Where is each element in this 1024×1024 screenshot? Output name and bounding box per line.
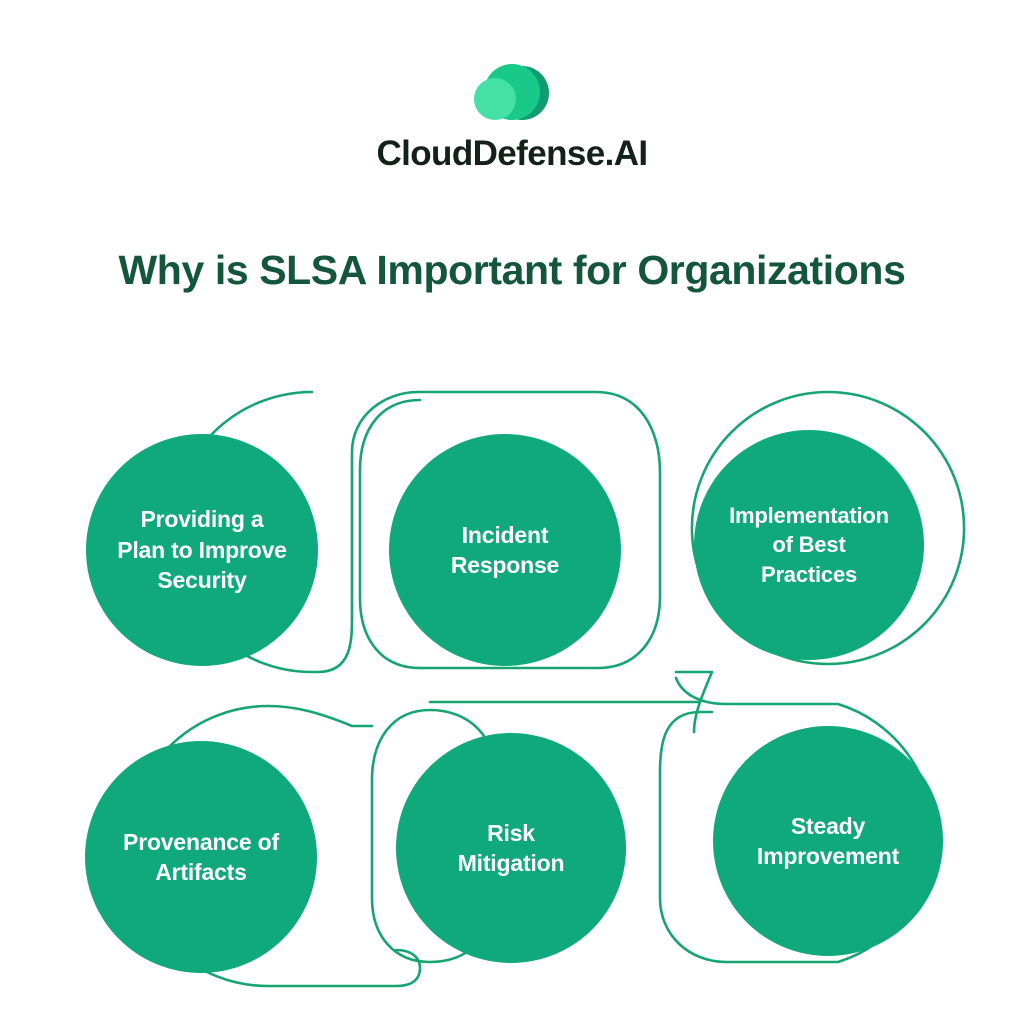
node-label-steady-improvement: Steady Improvement: [749, 811, 907, 872]
node-label-risk-mitigation: Risk Mitigation: [450, 818, 573, 879]
node-providing-plan[interactable]: Providing a Plan to Improve Security: [86, 434, 318, 666]
node-steady-improvement[interactable]: Steady Improvement: [713, 726, 943, 956]
ring-path-row-link: [676, 672, 712, 732]
node-label-provenance: Provenance of Artifacts: [115, 827, 287, 888]
node-risk-mitigation[interactable]: Risk Mitigation: [396, 733, 626, 963]
node-label-incident-response: Incident Response: [443, 520, 567, 581]
brand-wordmark: CloudDefense.AI: [0, 136, 1024, 171]
node-incident-response[interactable]: Incident Response: [389, 434, 621, 666]
node-best-practices[interactable]: Implementation of Best Practices: [694, 430, 924, 660]
brand-logo-block: CloudDefense.AI: [0, 62, 1024, 171]
node-provenance[interactable]: Provenance of Artifacts: [85, 741, 317, 973]
page-title: Why is SLSA Important for Organizations: [0, 248, 1024, 293]
cloud-logo-icon: [467, 62, 557, 122]
node-label-providing-plan: Providing a Plan to Improve Security: [109, 504, 295, 595]
node-label-best-practices: Implementation of Best Practices: [721, 501, 897, 588]
